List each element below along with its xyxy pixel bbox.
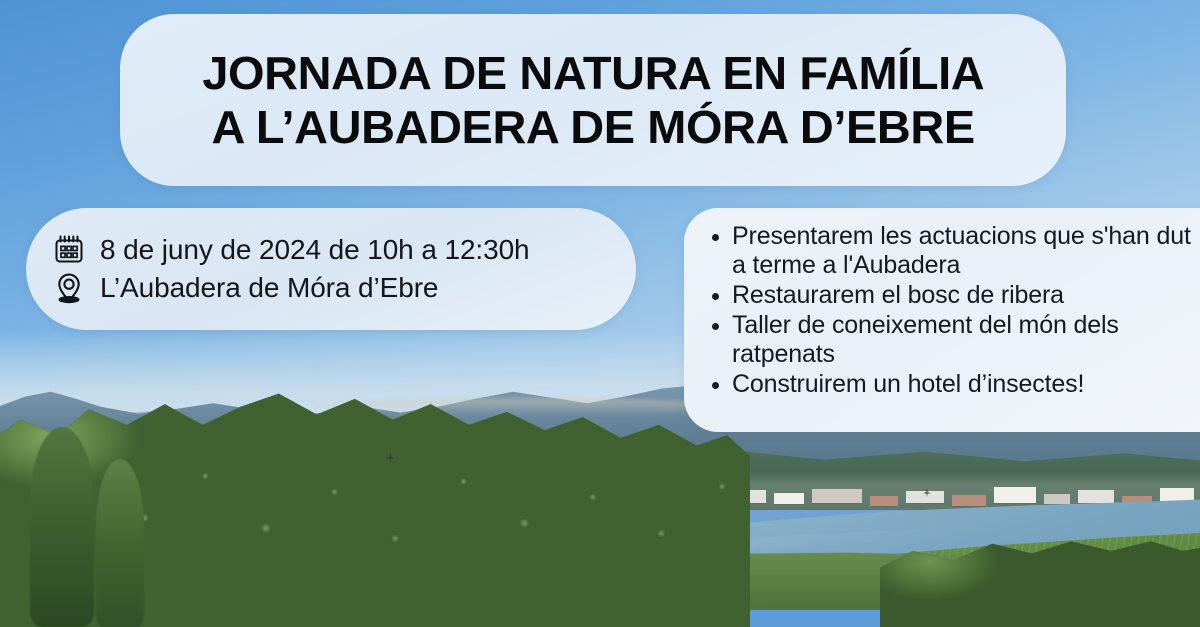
building [812,489,862,503]
location-pin-icon [52,271,86,305]
event-date-row: 8 de juny de 2024 de 10h a 12:30h [52,233,636,267]
page-title-line-2: A L’AUBADERA DE MÓRA D’EBRE [211,100,974,154]
event-date-text: 8 de juny de 2024 de 10h a 12:30h [100,234,530,266]
event-location-row: L’Aubadera de Móra d’Ebre [52,271,636,305]
building [1044,494,1070,504]
activities-list: Presentarem les actuacions que s'han dut… [710,222,1200,399]
poster-root: JORNADA DE NATURA EN FAMÍLIA A L’AUBADER… [0,0,1200,627]
list-item: Restaurarem el bosc de ribera [732,281,1200,310]
list-item: Presentarem les actuacions que s'han dut… [732,222,1200,280]
page-title-line-1: JORNADA DE NATURA EN FAMÍLIA [202,46,984,100]
event-info-panel: 8 de juny de 2024 de 10h a 12:30h L’Auba… [26,208,636,330]
title-panel: JORNADA DE NATURA EN FAMÍLIA A L’AUBADER… [120,14,1066,186]
poplar-tree-secondary [96,459,144,627]
calendar-icon [52,233,86,267]
building [994,487,1036,503]
list-item: Taller de coneixement del món dels ratpe… [732,311,1200,369]
list-item: Construirem un hotel d’insectes! [732,370,1200,399]
poplar-tree [30,427,94,627]
activities-panel: Presentarem les actuacions que s'han dut… [684,208,1200,432]
building [774,493,804,504]
building [952,495,986,506]
event-location-text: L’Aubadera de Móra d’Ebre [100,272,438,304]
building [870,496,898,506]
building [1078,490,1114,503]
